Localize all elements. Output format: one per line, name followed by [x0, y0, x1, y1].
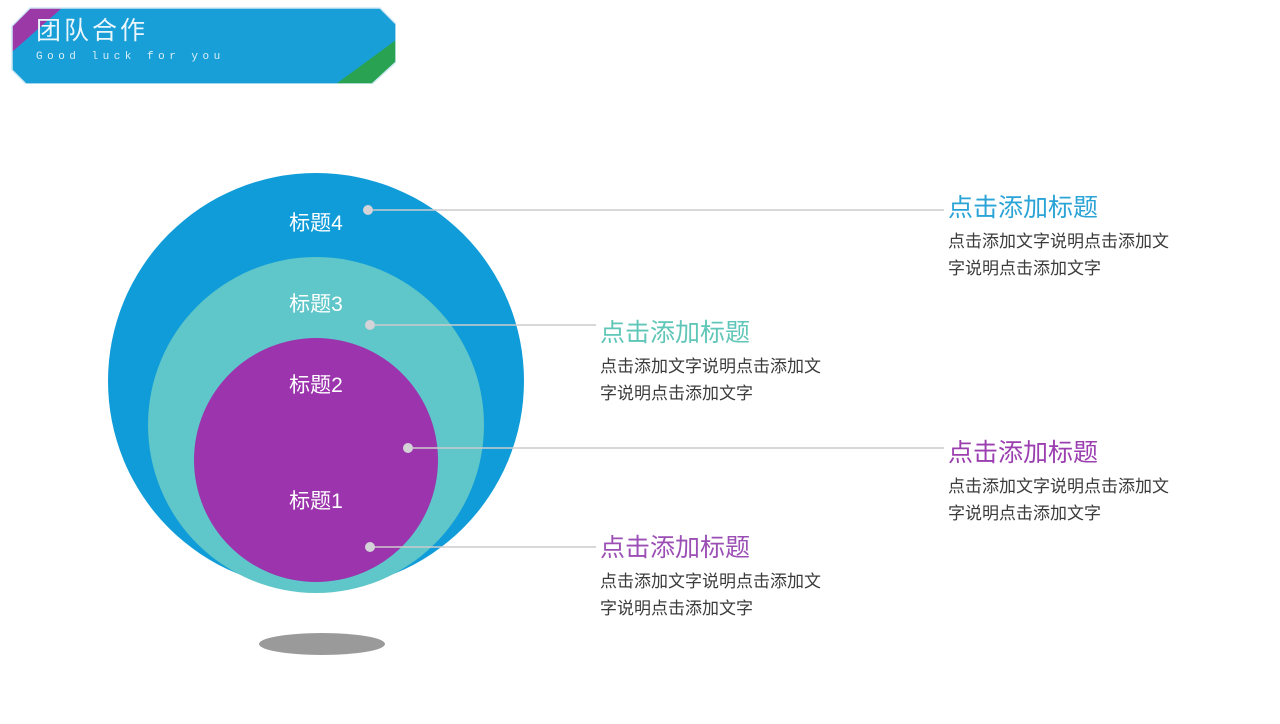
callout-title-4: 点击添加标题	[600, 533, 890, 563]
callout-body-line-2: 字说明点击添加文字	[600, 380, 890, 407]
callout-body-3: 点击添加文字说明点击添加文 字说明点击添加文字	[948, 473, 1238, 527]
connector-dot-1[interactable]	[363, 205, 373, 215]
callout-body-line-2: 字说明点击添加文字	[600, 595, 890, 622]
callout-block-3[interactable]: 点击添加标题 点击添加文字说明点击添加文 字说明点击添加文字	[948, 438, 1238, 527]
ground-shadow-ellipse	[259, 633, 385, 655]
callout-body-line-1: 点击添加文字说明点击添加文	[948, 473, 1238, 500]
callout-body-line-1: 点击添加文字说明点击添加文	[600, 568, 890, 595]
callout-body-line-2: 字说明点击添加文字	[948, 500, 1238, 527]
ring-label-2: 标题2	[289, 374, 343, 398]
connector-dot-4[interactable]	[365, 542, 375, 552]
callout-title-1: 点击添加标题	[948, 193, 1238, 223]
callout-block-2[interactable]: 点击添加标题 点击添加文字说明点击添加文 字说明点击添加文字	[600, 318, 890, 407]
callout-body-line-1: 点击添加文字说明点击添加文	[948, 228, 1238, 255]
connector-dot-2[interactable]	[365, 320, 375, 330]
callout-body-line-2: 字说明点击添加文字	[948, 255, 1238, 282]
callout-body-4: 点击添加文字说明点击添加文 字说明点击添加文字	[600, 568, 890, 622]
callout-title-2: 点击添加标题	[600, 318, 890, 348]
callout-body-line-1: 点击添加文字说明点击添加文	[600, 353, 890, 380]
callout-block-4[interactable]: 点击添加标题 点击添加文字说明点击添加文 字说明点击添加文字	[600, 533, 890, 622]
callout-body-2: 点击添加文字说明点击添加文 字说明点击添加文字	[600, 353, 890, 407]
callout-title-3: 点击添加标题	[948, 438, 1238, 468]
connector-dot-3[interactable]	[403, 443, 413, 453]
ring-label-4: 标题4	[289, 212, 343, 236]
callout-body-1: 点击添加文字说明点击添加文 字说明点击添加文字	[948, 228, 1238, 282]
callout-block-1[interactable]: 点击添加标题 点击添加文字说明点击添加文 字说明点击添加文字	[948, 193, 1238, 282]
ring-label-1: 标题1	[289, 490, 343, 514]
ring-label-3: 标题3	[289, 293, 343, 317]
